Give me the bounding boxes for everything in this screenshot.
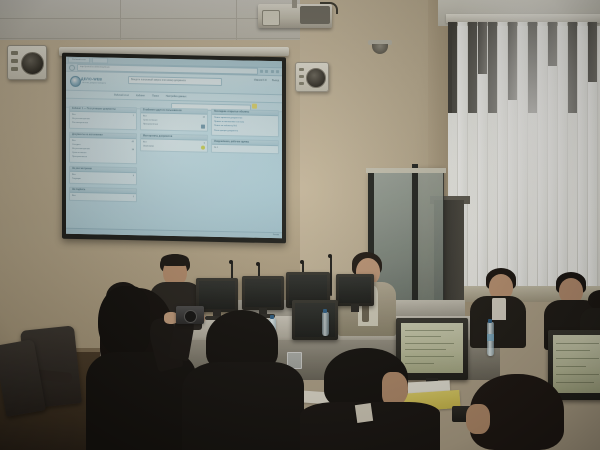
bottle-cap	[270, 315, 274, 319]
panel-row: № 1	[214, 146, 276, 152]
panel-documents-in-work: Документы на исполнении Все42 Сегодня На…	[69, 131, 137, 163]
row-label[interactable]: Черновики	[143, 144, 154, 148]
projection-surface: Рабочий стол http://portal.local/desktop…	[66, 57, 282, 239]
header-user-area: Иванов И.И. Выход	[254, 80, 279, 83]
bookmark-icon[interactable]	[260, 70, 263, 73]
panel-my-draft-documents: Мои проекты документов Все5 Черновики	[140, 133, 208, 153]
speaker-cone-icon	[21, 52, 44, 75]
app-body: Кабинет 1 — Поступившие документы Все7 Н…	[66, 103, 282, 234]
row-label[interactable]: Просроченные	[72, 155, 87, 160]
projector-mount	[292, 0, 297, 8]
account-icon[interactable]	[276, 70, 279, 73]
panel-recent-objects: Последние открытые объекты Поиск проекто…	[211, 109, 279, 137]
row-value: 7	[133, 114, 134, 118]
panel-row: Черновики	[143, 144, 205, 150]
status-dot-icon	[201, 145, 205, 149]
panel-row: Просроченные	[143, 123, 205, 129]
row-value: 1	[133, 195, 134, 199]
wall-speaker-left	[7, 45, 47, 80]
bottle-cap	[488, 319, 492, 323]
current-user-label: Иванов И.И.	[254, 80, 267, 82]
logout-link[interactable]: Выход	[272, 80, 279, 82]
panel-row: Регистрация документа	[214, 128, 276, 134]
speaker-cone-icon	[306, 68, 326, 88]
menu-item-cabinet[interactable]: Кабинет	[136, 94, 145, 97]
attachment-icon[interactable]	[201, 124, 205, 128]
panel-row: Просроченные	[72, 155, 134, 161]
conference-room-photo: Рабочий стол http://portal.local/desktop…	[0, 0, 600, 450]
projector-lens-icon	[262, 10, 280, 26]
menu-item-settings[interactable]: Настройка данных	[166, 95, 187, 98]
panel-row: Рассмотренные	[72, 121, 134, 127]
panel-to-sign: На подпись Все1	[69, 187, 137, 203]
app-logo-icon	[70, 76, 81, 87]
projected-application: Рабочий стол http://portal.local/desktop…	[66, 57, 282, 239]
row-label[interactable]: Просроченные	[143, 123, 158, 128]
panel-under-review: На рассмотрении Все3 Текущие	[69, 165, 137, 185]
bottle-label	[487, 334, 494, 341]
water-bottle[interactable]	[322, 312, 329, 336]
row-label[interactable]: Текущие	[72, 177, 81, 181]
row-label[interactable]: Регистрация документа	[214, 128, 238, 133]
row-value: 5	[204, 141, 205, 145]
reload-icon[interactable]	[69, 64, 75, 70]
row-label[interactable]: Рассмотренные	[72, 121, 88, 126]
row-value: 18	[132, 148, 134, 152]
menu-icon[interactable]	[271, 70, 274, 73]
wall-speaker-right	[295, 62, 329, 92]
shirt-collar	[355, 403, 373, 423]
panel-incoming-documents: Кабинет 1 — Поступившие документы Все7 Н…	[69, 106, 137, 130]
row-value: 42	[132, 140, 134, 144]
panel-column-2: В кабинете другого пользователя Все12 Ср…	[140, 107, 208, 228]
projector-cable	[320, 2, 338, 14]
browser-tab-new[interactable]	[92, 57, 108, 64]
partition-post	[412, 164, 418, 322]
panel-column-1: Кабинет 1 — Поступившие документы Все7 Н…	[69, 106, 137, 227]
monitor-screen-document	[401, 323, 463, 373]
row-label[interactable]: № 1	[214, 146, 218, 150]
panel-other-user-cabinet: В кабинете другого пользователя Все12 Ср…	[140, 107, 208, 131]
browser-toolbar-icons	[260, 70, 280, 73]
panel-row: Текущие	[72, 177, 134, 183]
panel-column-3: Последние открытые объекты Поиск проекто…	[211, 109, 279, 230]
download-icon[interactable]	[265, 70, 268, 73]
camera-lens-icon	[184, 310, 197, 323]
monitor-screen-document	[553, 335, 600, 393]
menu-item-search[interactable]: Поиск	[152, 95, 159, 98]
row-label[interactable]: Все	[72, 194, 76, 198]
app-logo-title: ДЕЛО-WEB	[81, 77, 102, 81]
partition-rail	[366, 168, 446, 173]
menu-item-desktop[interactable]: Рабочий стол	[114, 94, 129, 97]
app-logo-subtitle: система документооборота	[82, 82, 106, 85]
global-search-input[interactable]: Введите поисковый запрос или номер докум…	[128, 76, 222, 86]
panel-notifications-groups: Уведомления, рабочие группы № 1	[211, 139, 279, 155]
bottle-cap	[323, 309, 327, 313]
browser-tab-active[interactable]: Рабочий стол	[68, 57, 90, 64]
row-value: 3	[133, 174, 134, 178]
row-value: 12	[203, 116, 205, 120]
projection-screen: Рабочий стол http://portal.local/desktop…	[62, 53, 286, 244]
glass-partition-right	[416, 168, 444, 320]
panel-row: Все1	[72, 194, 134, 200]
